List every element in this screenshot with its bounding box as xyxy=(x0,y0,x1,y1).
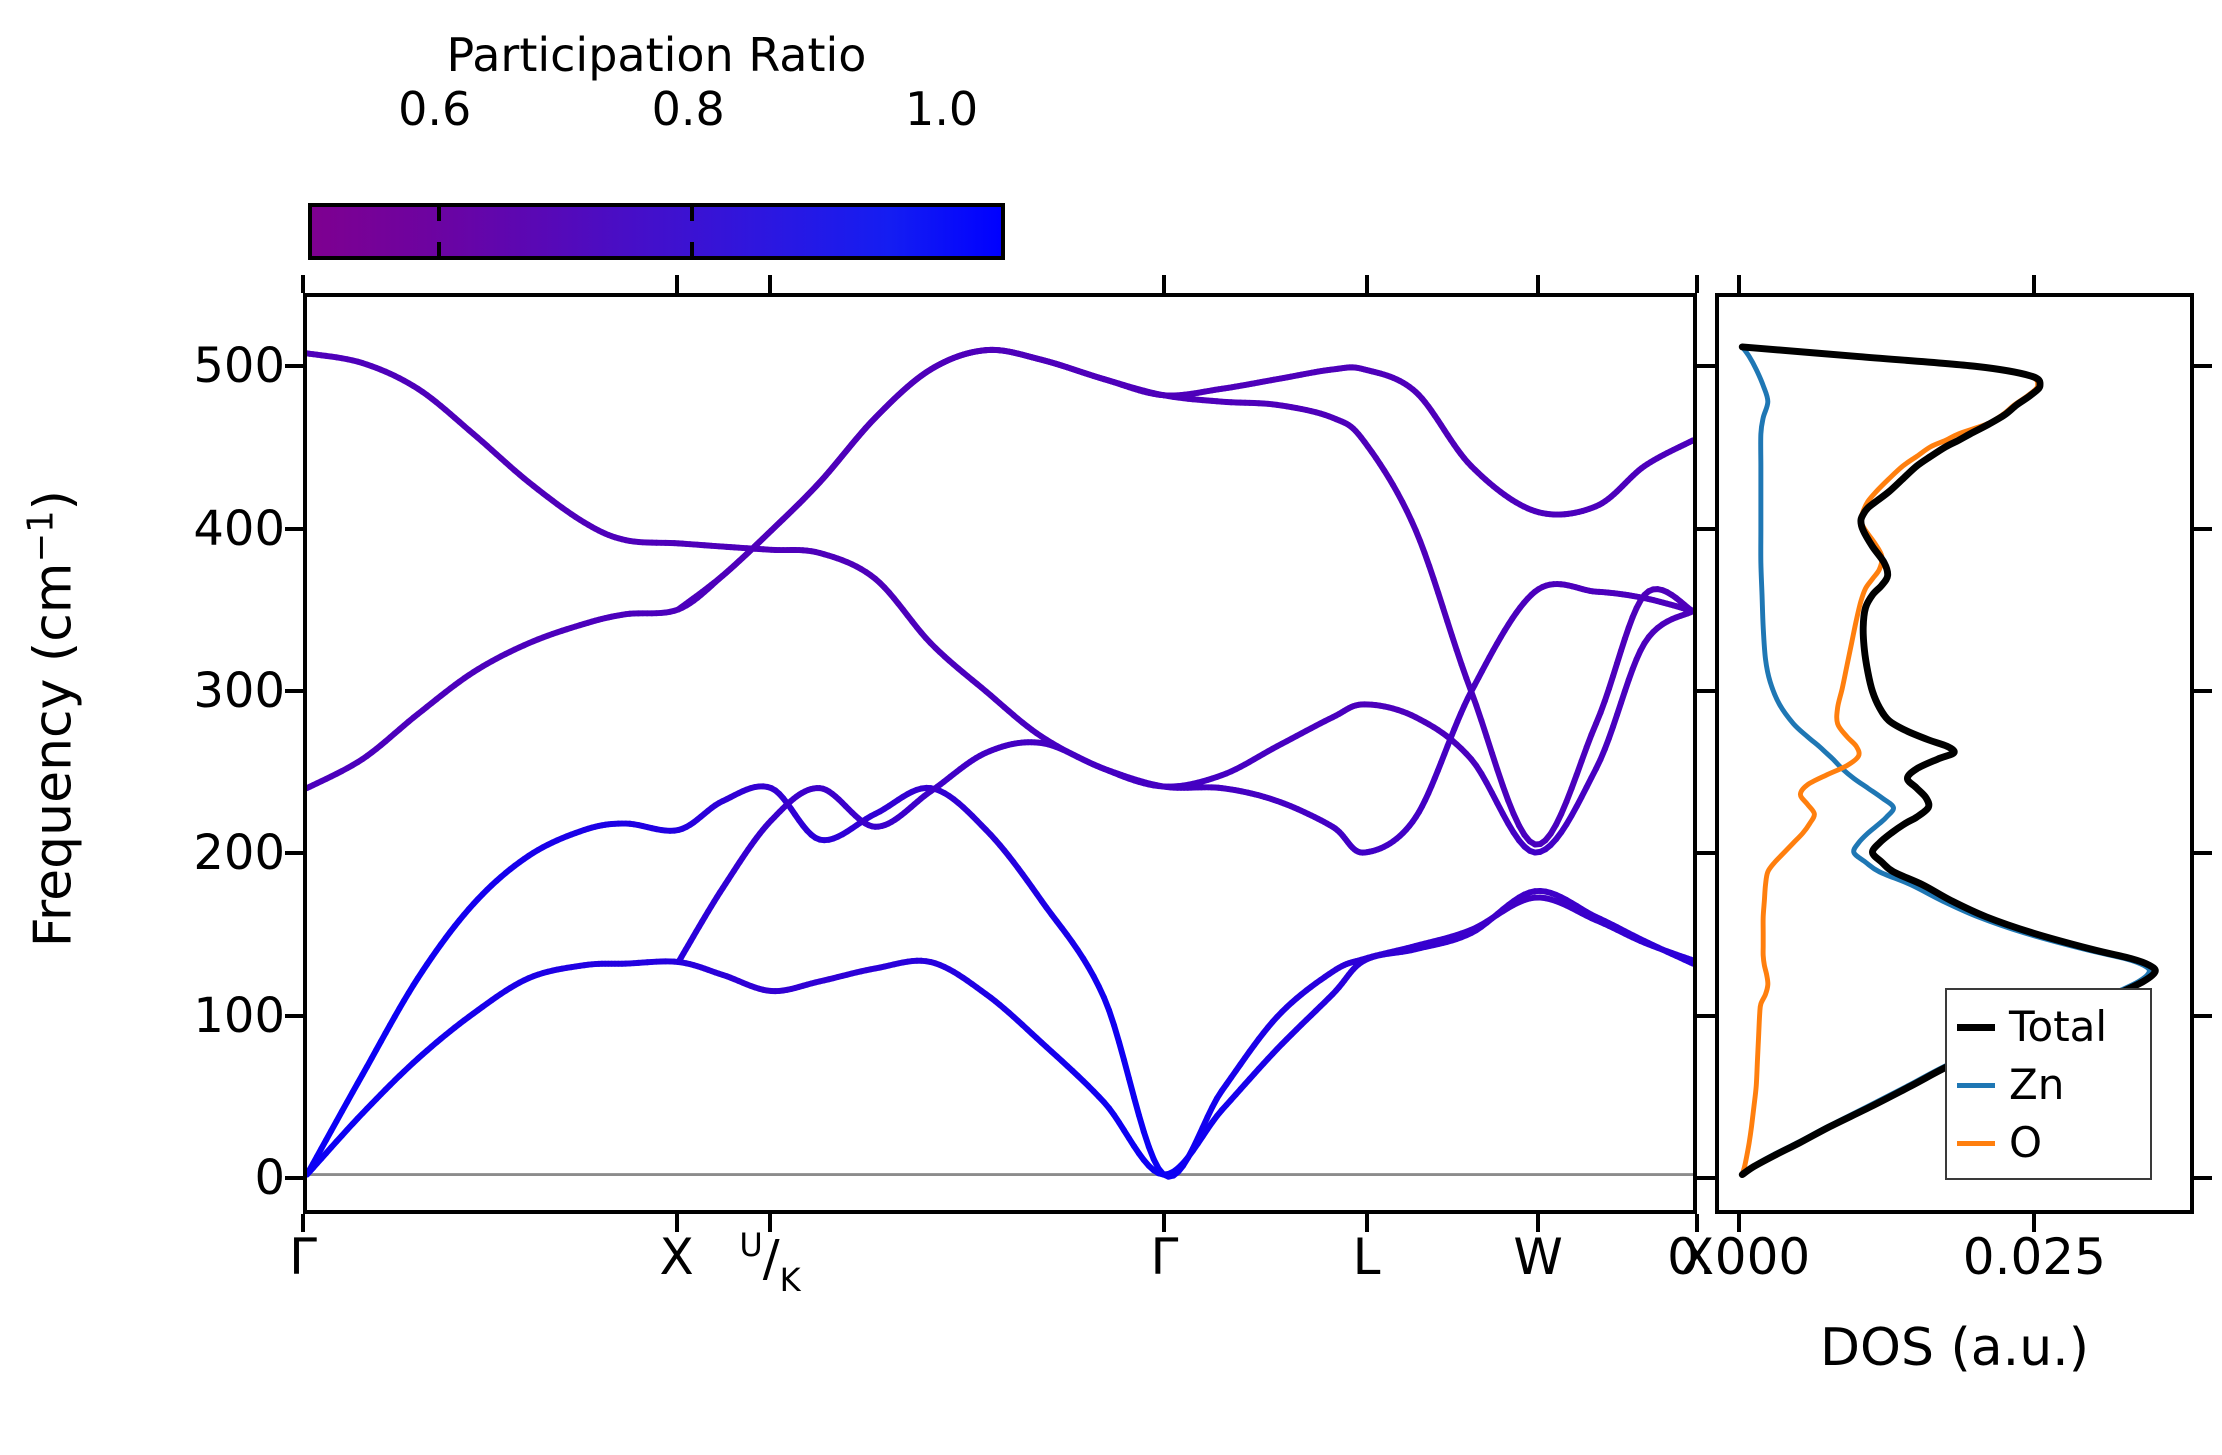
dos-legend: TotalZnO xyxy=(1945,988,2152,1180)
participation-ratio-colorbar xyxy=(308,203,1005,260)
band-y-tick-labels: 0100200300400500 xyxy=(110,0,285,1455)
y-tick-label-400: 400 xyxy=(193,501,285,557)
y-tick-label-0: 0 xyxy=(254,1150,285,1206)
band-curve-TA2 xyxy=(307,786,1693,1176)
x-tick-mark-top xyxy=(1536,275,1540,293)
x-tick-mark xyxy=(1695,1214,1699,1232)
y-tick-mark xyxy=(285,1014,303,1018)
dos-y-tick-mark xyxy=(1697,1014,1715,1018)
x-tick-mark xyxy=(675,1214,679,1232)
legend-item-o[interactable]: O xyxy=(1957,1114,2140,1172)
band-curve-TA1 xyxy=(307,891,1693,1175)
x-tick-mark xyxy=(1365,1214,1369,1232)
legend-line-icon xyxy=(1957,1083,1995,1088)
colorbar-gradient xyxy=(312,207,1001,256)
phonon-bandstructure-figure: Participation Ratio 0.60.81.0 0100200300… xyxy=(0,0,2222,1455)
legend-label: O xyxy=(2009,1122,2042,1164)
x-tick-mark xyxy=(1162,1214,1166,1232)
dos-x-axis-label: DOS (a.u.) xyxy=(1715,1318,2194,1378)
x-tick-mark-top xyxy=(301,275,305,293)
legend-line-icon xyxy=(1957,1024,1995,1031)
y-tick-label-300: 300 xyxy=(193,663,285,719)
band-y-axis-label: Frequency (cm−1) xyxy=(20,419,83,1019)
colorbar-tick-mark xyxy=(437,242,441,256)
x-tick-label-5: W xyxy=(1513,1228,1562,1286)
y-axis-label-text: Frequency (cm xyxy=(24,563,84,948)
dos-y-tick-mark-right xyxy=(2194,364,2212,368)
dos-y-tick-mark-right xyxy=(2194,689,2212,693)
band-curve-LA xyxy=(307,350,1693,845)
x-tick-mark-top xyxy=(768,275,772,293)
y-tick-label-200: 200 xyxy=(193,825,285,881)
x-tick-mark-top xyxy=(1365,275,1369,293)
dos-y-tick-mark xyxy=(1697,851,1715,855)
x-tick-mark-top xyxy=(1162,275,1166,293)
y-tick-mark xyxy=(285,1176,303,1180)
x-tick-mark xyxy=(301,1214,305,1232)
y-tick-label-500: 500 xyxy=(193,338,285,394)
legend-item-zn[interactable]: Zn xyxy=(1957,1056,2140,1114)
colorbar-tick-mark xyxy=(437,207,441,221)
y-tick-mark xyxy=(285,364,303,368)
legend-item-total[interactable]: Total xyxy=(1957,998,2140,1056)
band-curve-TO1 xyxy=(307,353,1693,852)
dos-y-tick-mark xyxy=(1697,689,1715,693)
x-tick-label-4: L xyxy=(1353,1228,1381,1286)
x-tick-label-1: X xyxy=(659,1228,693,1286)
colorbar-tick-0.8: 0.8 xyxy=(652,82,725,136)
band-structure-plot xyxy=(303,293,1697,1214)
y-tick-mark xyxy=(285,527,303,531)
x-tick-mark-top xyxy=(1695,275,1699,293)
colorbar-tick-mark xyxy=(690,207,694,221)
colorbar-title: Participation Ratio xyxy=(308,28,1005,82)
dos-y-tick-mark-right xyxy=(2194,851,2212,855)
x-tick-mark xyxy=(1536,1214,1540,1232)
band-curve-LO xyxy=(678,350,1693,609)
y-axis-label-close: ) xyxy=(24,490,84,510)
legend-label: Total xyxy=(2009,1006,2107,1048)
legend-label: Zn xyxy=(2009,1064,2064,1106)
band-curve-TO2 xyxy=(678,584,1693,962)
dos-x-tick-label-1: 0.025 xyxy=(1963,1228,2106,1286)
y-axis-label-exponent: −1 xyxy=(20,510,61,562)
dos-x-tick-mark xyxy=(2032,1214,2036,1232)
x-tick-label-3: Γ xyxy=(1151,1228,1179,1286)
dos-y-tick-mark xyxy=(1697,527,1715,531)
band-structure-canvas xyxy=(307,297,1693,1210)
colorbar-tick-0.6: 0.6 xyxy=(398,82,471,136)
x-tick-label-0: Γ xyxy=(289,1228,317,1286)
dos-x-tick-mark xyxy=(1737,275,1741,293)
y-tick-mark xyxy=(285,851,303,855)
colorbar-tick-mark xyxy=(690,242,694,256)
x-tick-mark-top xyxy=(675,275,679,293)
dos-x-tick-mark xyxy=(1737,1214,1741,1232)
y-tick-mark xyxy=(285,689,303,693)
dos-x-tick-label-0: 0.000 xyxy=(1667,1228,1810,1286)
dos-x-tick-mark xyxy=(2032,275,2036,293)
dos-y-tick-mark xyxy=(1697,364,1715,368)
dos-y-tick-mark xyxy=(1697,1176,1715,1180)
y-tick-label-100: 100 xyxy=(193,988,285,1044)
dos-y-tick-mark-right xyxy=(2194,1176,2212,1180)
colorbar-tick-1.0: 1.0 xyxy=(905,82,978,136)
x-tick-mark xyxy=(768,1214,772,1232)
x-tick-label-2: U/K xyxy=(739,1228,800,1295)
dos-y-tick-mark-right xyxy=(2194,527,2212,531)
colorbar-tick-labels: 0.60.81.0 xyxy=(308,82,1005,138)
dos-y-tick-mark-right xyxy=(2194,1014,2212,1018)
legend-line-icon xyxy=(1957,1141,1995,1146)
